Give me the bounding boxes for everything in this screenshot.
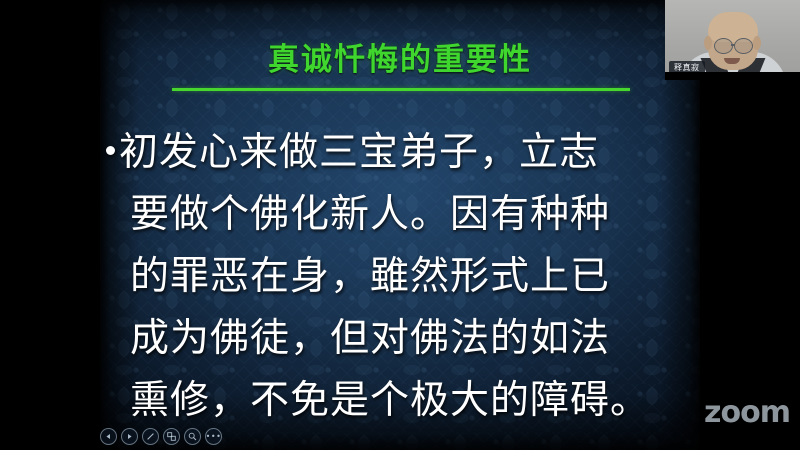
slide-body-line: 成为佛徒，但对佛法的如法 — [104, 308, 696, 370]
annotate-button[interactable] — [142, 428, 159, 445]
slide-body-line-text: 熏修，不免是个极大的障碍。 — [130, 370, 650, 432]
slide-body-line: 熏修，不免是个极大的障碍。 — [104, 370, 696, 432]
zoom-watermark: zoom — [704, 398, 790, 428]
zoom-search-button[interactable] — [184, 428, 201, 445]
participant-video-thumbnail[interactable]: 释真寂 — [665, 0, 800, 80]
participant-scalp — [708, 12, 758, 42]
triangle-right-icon — [126, 433, 133, 440]
next-slide-button[interactable] — [121, 428, 138, 445]
triangle-left-icon — [105, 433, 112, 440]
glasses-bridge-icon — [731, 44, 735, 46]
thumbnails-button[interactable] — [163, 428, 180, 445]
letterbox-bar-left — [0, 0, 100, 450]
slide-body-text: 初发心来做三宝弟子，立志 要做个佛化新人。因有种种 的罪恶在身，雖然形式上已 成… — [100, 122, 700, 432]
participant-ear-right — [753, 36, 761, 50]
glasses-lens-left-icon — [714, 38, 733, 54]
previous-slide-button[interactable] — [100, 428, 117, 445]
grid-icon — [167, 432, 176, 441]
slide-content: 真诚忏悔的重要性 初发心来做三宝弟子，立志 要做个佛化新人。因有种种 的罪恶在身… — [100, 0, 700, 450]
magnifier-icon — [188, 432, 197, 441]
slide-body-line: 要做个佛化新人。因有种种 — [104, 184, 696, 246]
presentation-slide[interactable]: 真诚忏悔的重要性 初发心来做三宝弟子，立志 要做个佛化新人。因有种种 的罪恶在身… — [100, 0, 700, 450]
slide-control-toolbar[interactable]: ••• — [100, 428, 222, 445]
glasses-lens-right-icon — [734, 38, 753, 54]
slide-title-underline — [172, 88, 630, 91]
slide-body-line-text: 的罪恶在身，雖然形式上已 — [130, 246, 610, 308]
slide-body-line: 的罪恶在身，雖然形式上已 — [104, 246, 696, 308]
ellipsis-icon: ••• — [206, 434, 222, 440]
zoom-screen-share-view: 真诚忏悔的重要性 初发心来做三宝弟子，立志 要做个佛化新人。因有种种 的罪恶在身… — [0, 0, 800, 450]
more-options-button[interactable]: ••• — [205, 428, 222, 445]
slide-body-line: 初发心来做三宝弟子，立志 — [104, 122, 696, 184]
pen-icon — [146, 432, 155, 441]
slide-title: 真诚忏悔的重要性 — [100, 44, 700, 77]
slide-body-line-text: 成为佛徒，但对佛法的如法 — [130, 308, 610, 370]
slide-body-line-text: 要做个佛化新人。因有种种 — [130, 184, 610, 246]
video-bottom-bar — [665, 72, 800, 80]
slide-body-line-text: 初发心来做三宝弟子，立志 — [119, 122, 599, 184]
bullet-dot-icon — [106, 146, 115, 155]
participant-ear-left — [704, 36, 712, 50]
